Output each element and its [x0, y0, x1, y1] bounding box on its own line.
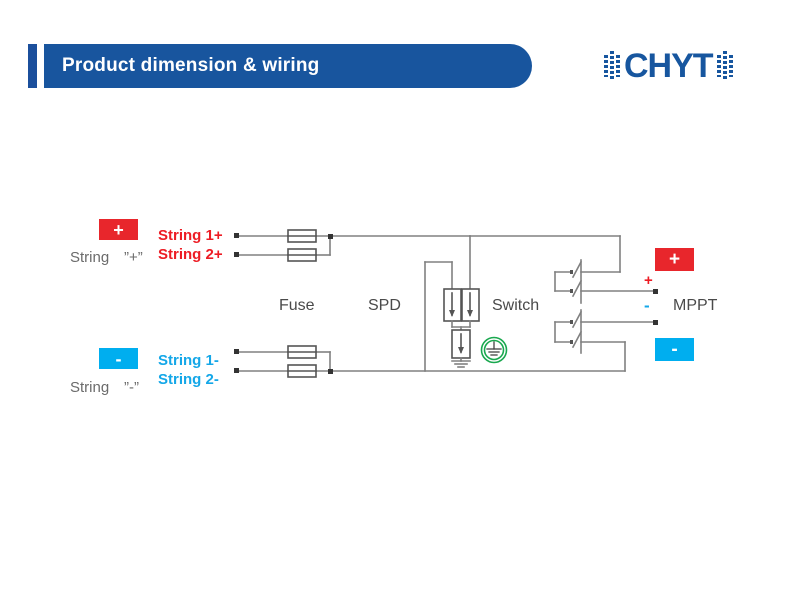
- switch-blade-pos-bottom: [573, 281, 581, 296]
- junction-dot-neg: [328, 369, 333, 374]
- label-string-2-negative: String 2-: [158, 371, 219, 388]
- switch-blade-neg-bottom: [573, 332, 581, 347]
- label-string-1-negative: String 1-: [158, 352, 219, 369]
- terminal-dot-2p: [234, 252, 239, 257]
- label-string-1-positive: String 1+: [158, 227, 223, 244]
- label-string-2-positive: String 2+: [158, 246, 223, 263]
- output-plus-symbol: +: [669, 250, 680, 269]
- wiring-diagram: + String ”+” String 1+ String 2+ - Strin…: [0, 0, 800, 597]
- chip-output-positive: +: [655, 248, 694, 271]
- output-dot-positive: [653, 289, 658, 294]
- chip-string-positive: +: [99, 219, 138, 240]
- chip-string-negative: -: [99, 348, 138, 369]
- ground-badge-icon: [482, 338, 507, 363]
- label-mppt: MPPT: [673, 297, 717, 315]
- label-fuse: Fuse: [279, 297, 315, 315]
- chip-output-negative: -: [655, 338, 694, 361]
- label-string-negative-quote: ”-”: [124, 379, 139, 396]
- chip-plus-symbol: +: [113, 221, 124, 239]
- switch-blade-neg-top: [573, 312, 581, 327]
- label-string-negative-group: String: [70, 379, 109, 396]
- switch-blade-pos-top: [573, 262, 581, 277]
- output-minus-symbol: -: [671, 340, 677, 359]
- output-dot-negative: [653, 320, 658, 325]
- terminal-dot-2n: [234, 368, 239, 373]
- label-output-plus-mark: +: [644, 272, 653, 289]
- junction-dot-pos: [328, 234, 333, 239]
- label-switch: Switch: [492, 297, 539, 315]
- label-output-minus-mark: -: [644, 296, 650, 316]
- terminal-dot-1p: [234, 233, 239, 238]
- label-string-positive-quote: ”+”: [124, 249, 143, 266]
- label-string-positive-group: String: [70, 249, 109, 266]
- label-spd: SPD: [368, 297, 401, 315]
- terminal-dot-1n: [234, 349, 239, 354]
- chip-minus-symbol: -: [116, 350, 122, 368]
